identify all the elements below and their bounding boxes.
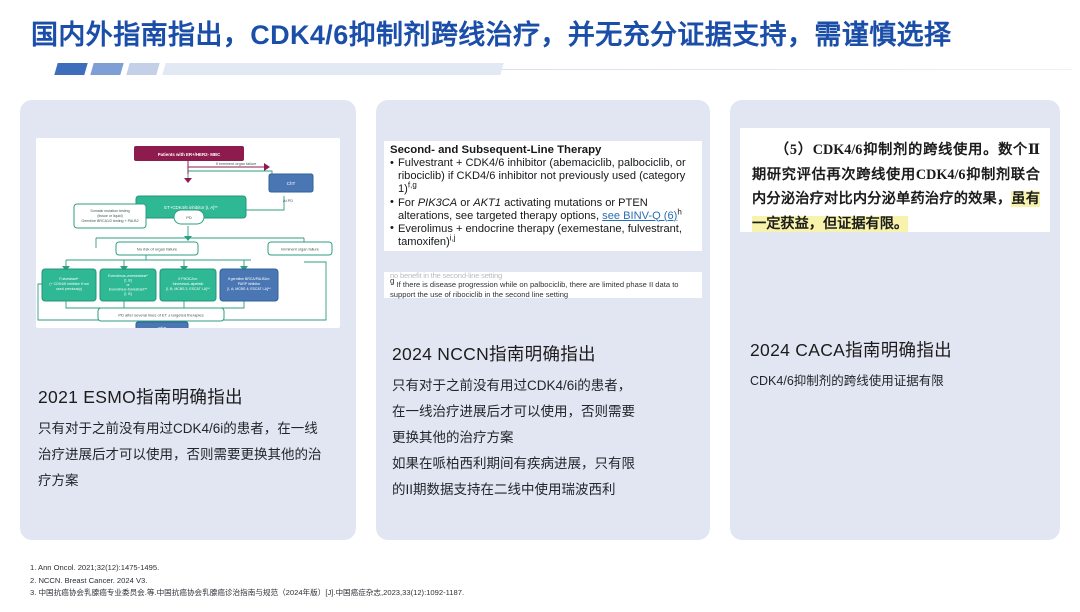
svg-text:Germline BRCA1/2 testing + PAL: Germline BRCA1/2 testing + PALB2 bbox=[81, 219, 138, 223]
svg-text:No risk of organ failure: No risk of organ failure bbox=[137, 247, 178, 252]
nccn-body-line: 只有对于之前没有用过CDK4/6i的患者， bbox=[392, 373, 692, 399]
svg-text:Patients with ER+/HER2- MBC: Patients with ER+/HER2- MBC bbox=[158, 152, 221, 157]
reference-item: 1. Ann Oncol. 2021;32(12):1475-1495. bbox=[30, 562, 1060, 575]
page-title: 国内外指南指出，CDK4/6抑制剂跨线治疗，并无充分证据支持，需谨慎选择 bbox=[31, 13, 951, 52]
nccn-body-line: 如果在哌柏西利期间有疾病进展，只有限 bbox=[392, 451, 692, 477]
reference-item: 2. NCCN. Breast Cancer. 2024 V3. bbox=[30, 575, 1060, 588]
svg-text:(+ CDK4/6 inhibitor if not: (+ CDK4/6 inhibitor if not bbox=[49, 282, 88, 286]
nccn-footnote-clipped: no benefit in the second-line setting bbox=[390, 271, 702, 280]
svg-text:[I, A; MCBS 4; ESCAT I-A]**: [I, A; MCBS 4; ESCAT I-A]** bbox=[227, 287, 271, 291]
svg-text:If imminent organ failure: If imminent organ failure bbox=[216, 162, 257, 166]
esmo-flowchart-image: Patients with ER+/HER2- MBC ChT ET+CDK4/… bbox=[36, 138, 340, 328]
nccn-body-line: 在一线治疗进展后才可以使用，否则需要 bbox=[392, 399, 692, 425]
nccn-card-body: 只有对于之前没有用过CDK4/6i的患者， 在一线治疗进展后才可以使用，否则需要… bbox=[392, 373, 692, 503]
nccn-bullet-list: Fulvestrant + CDK4/6 inhibitor (abemacic… bbox=[390, 157, 700, 248]
svg-text:fulvestrant–alpelisib: fulvestrant–alpelisib bbox=[173, 282, 204, 286]
svg-text:PD: PD bbox=[186, 215, 192, 220]
nccn-footnote-body: g If there is disease progression while … bbox=[390, 280, 702, 299]
divider-block-3 bbox=[126, 63, 159, 75]
esmo-card-heading: 2021 ESMO指南明确指出 bbox=[38, 384, 243, 409]
svg-text:At PD: At PD bbox=[283, 199, 293, 203]
caca-card-body: CDK4/6抑制剂的跨线使用证据有限 bbox=[750, 370, 1040, 392]
caca-segment-plain: （5）CDK4/6抑制剂的跨线使用。数个Ⅱ期研究评估再次跨线使用CDK4/6抑制… bbox=[752, 142, 1040, 207]
caca-card-heading: 2024 CACA指南明确指出 bbox=[750, 337, 952, 362]
decorative-divider bbox=[28, 63, 1052, 77]
svg-text:ChT: ChT bbox=[158, 326, 167, 328]
nccn-card-heading: 2024 NCCN指南明确指出 bbox=[392, 341, 596, 366]
binv-q-link[interactable]: see BINV-Q (6) bbox=[602, 210, 677, 222]
svg-text:[I, B]: [I, B] bbox=[124, 279, 131, 283]
svg-text:(tissue or liquid): (tissue or liquid) bbox=[97, 214, 122, 218]
svg-text:[I, B]: [I, B] bbox=[124, 292, 131, 296]
svg-text:Somatic mutation testing: Somatic mutation testing bbox=[90, 209, 129, 213]
svg-text:Fulvestrant*: Fulvestrant* bbox=[59, 277, 79, 281]
nccn-bullet-2: For PIK3CA or AKT1 activating mutations … bbox=[390, 197, 700, 223]
nccn-bullet-3: Everolimus + endocrine therapy (exemesta… bbox=[390, 223, 700, 249]
references-list: 1. Ann Oncol. 2021;32(12):1475-1495. 2. … bbox=[30, 562, 1060, 600]
svg-text:PARP inhibitor: PARP inhibitor bbox=[238, 282, 261, 286]
divider-block-4 bbox=[162, 63, 503, 75]
svg-text:Imminent organ failure: Imminent organ failure bbox=[281, 248, 319, 252]
svg-text:If PIK3CAm:: If PIK3CAm: bbox=[178, 277, 197, 281]
divider-block-2 bbox=[90, 63, 123, 75]
svg-text:ET+CDK4/6 inhibitor [I, A]**: ET+CDK4/6 inhibitor [I, A]** bbox=[164, 205, 218, 210]
reference-item: 3. 中国抗癌协会乳腺癌专业委员会.等.中国抗癌协会乳腺癌诊治指南与规范（202… bbox=[30, 587, 1060, 600]
page-header: 国内外指南指出，CDK4/6抑制剂跨线治疗，并无充分证据支持，需谨慎选择 bbox=[0, 0, 1080, 88]
svg-text:Everolimus–fulvestrant**: Everolimus–fulvestrant** bbox=[109, 288, 148, 292]
nccn-excerpt-heading: Second- and Subsequent-Line Therapy bbox=[390, 144, 700, 157]
nccn-body-line: 更换其他的治疗方案 bbox=[392, 425, 692, 451]
nccn-body-line: 的II期数据支持在二线中使用瑞波西利 bbox=[392, 477, 692, 503]
svg-text:PD after several lines of ET ±: PD after several lines of ET ± targeted … bbox=[118, 313, 203, 318]
svg-text:ChT: ChT bbox=[287, 181, 296, 186]
nccn-bullet-1: Fulvestrant + CDK4/6 inhibitor (abemacic… bbox=[390, 157, 700, 196]
esmo-card-body: 只有对于之前没有用过CDK4/6i的患者，在一线治疗进展后才可以使用，否则需要更… bbox=[38, 416, 330, 494]
divider-block-1 bbox=[54, 63, 87, 75]
divider-line bbox=[502, 69, 1072, 70]
nccn-footnote-text: no benefit in the second-line setting g … bbox=[390, 271, 702, 299]
svg-text:used previously): used previously) bbox=[56, 287, 82, 291]
svg-text:[I, B; MCBS 2; ESCAT I-A]**: [I, B; MCBS 2; ESCAT I-A]** bbox=[166, 287, 210, 291]
nccn-excerpt-text: Second- and Subsequent-Line Therapy Fulv… bbox=[390, 144, 700, 249]
svg-text:Everolimus–exemestane*: Everolimus–exemestane* bbox=[108, 274, 148, 278]
svg-text:If germline BRCA/PALB2m:: If germline BRCA/PALB2m: bbox=[228, 277, 271, 281]
caca-excerpt-text: （5）CDK4/6抑制剂的跨线使用。数个Ⅱ期研究评估再次跨线使用CDK4/6抑制… bbox=[752, 138, 1040, 236]
